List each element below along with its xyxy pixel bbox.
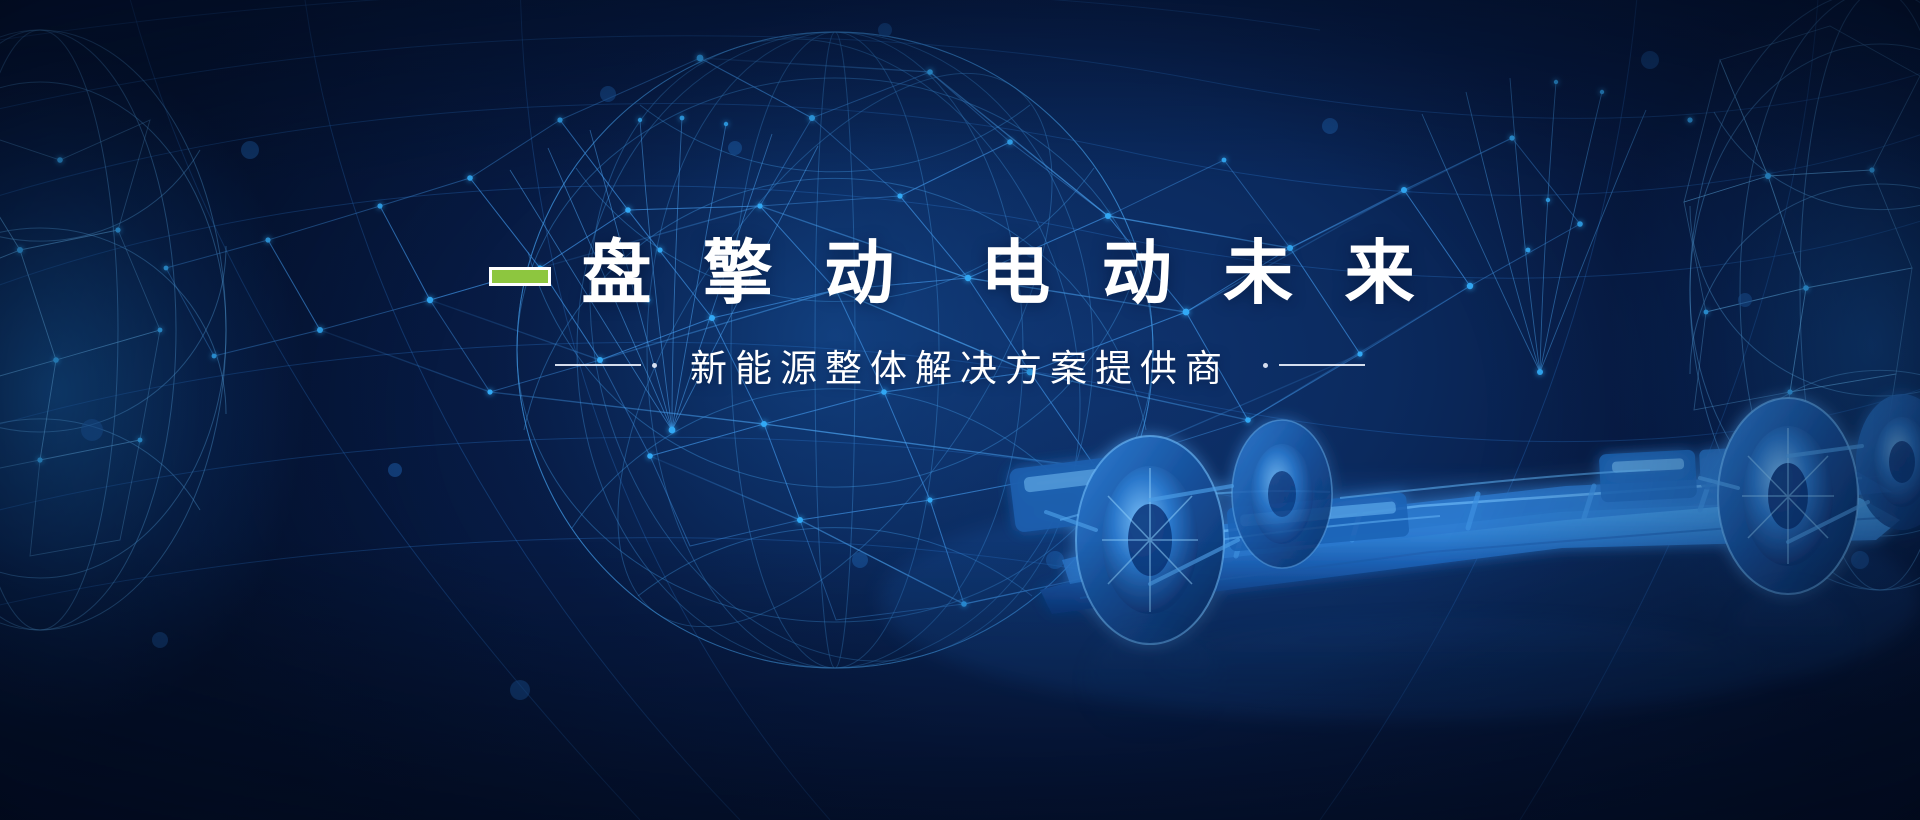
rule-left	[555, 364, 641, 366]
hero-banner: 盘 擎 动 电 动 未 来 新能源整体解决方案提供商	[0, 0, 1920, 820]
background-gradient	[0, 0, 1920, 820]
accent-bar-yi	[489, 267, 551, 286]
page-title: 盘 擎 动 电 动 未 来	[489, 238, 1430, 308]
hero-text-block: 盘 擎 动 电 动 未 来 新能源整体解决方案提供商	[0, 238, 1920, 392]
subtitle-text: 新能源整体解决方案提供商	[668, 338, 1252, 392]
rule-right	[1279, 364, 1365, 366]
headline-segment-1: 盘 擎 动	[581, 238, 910, 308]
page-subtitle: 新能源整体解决方案提供商	[555, 338, 1365, 392]
headline-segment-2: 电 动 未 来	[980, 238, 1430, 308]
dot-left	[652, 363, 657, 368]
dot-right	[1263, 363, 1268, 368]
